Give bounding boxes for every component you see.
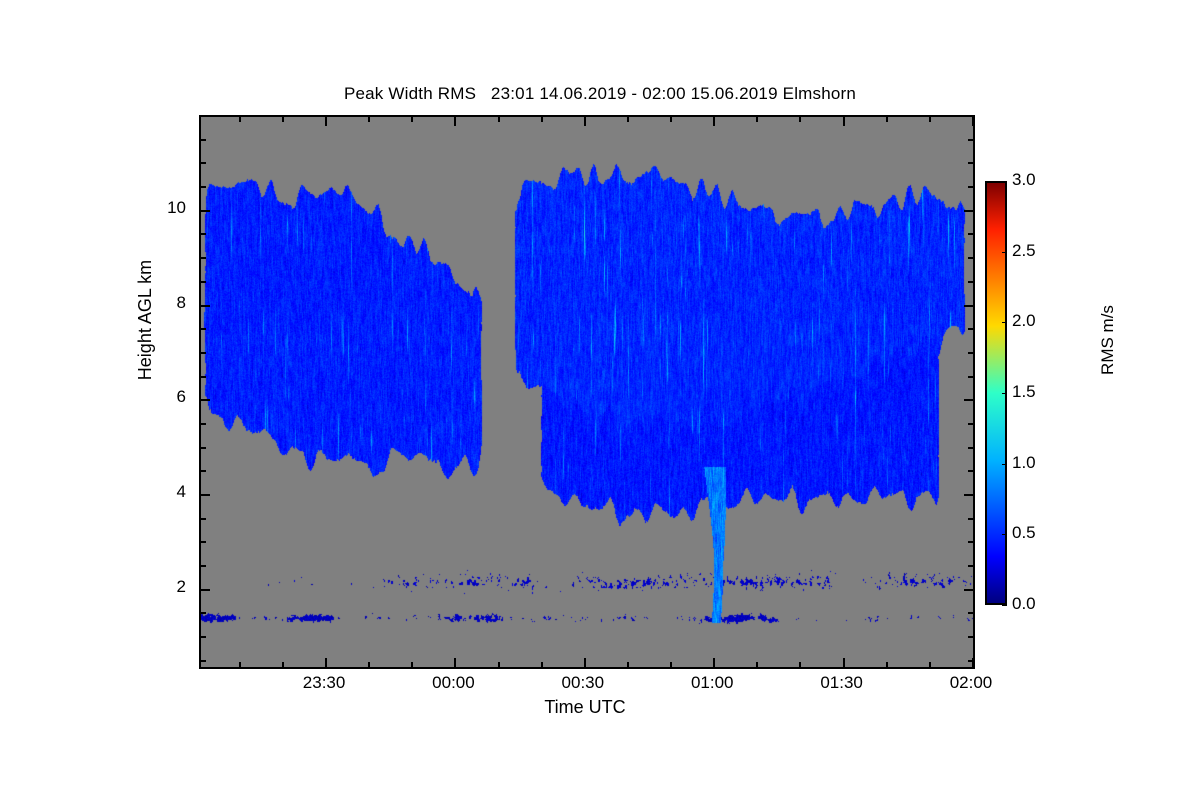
x-tick-major [713,117,715,126]
y-tick-label: 2 [106,577,186,597]
colorbar-tick-label: 0.0 [1012,594,1036,614]
y-tick-major [201,589,210,591]
x-tick-minor [411,117,413,122]
y-tick-minor [968,541,973,543]
y-tick-minor [968,660,973,662]
y-tick-minor [201,352,206,354]
colorbar-tick-label: 2.0 [1012,311,1036,331]
x-tick-minor [498,662,500,667]
y-tick-major [201,494,210,496]
x-axis-label: Time UTC [199,697,971,718]
y-tick-major [964,399,973,401]
colorbar-tick [1002,181,1007,182]
x-tick-label: 00:00 [393,673,513,693]
y-tick-minor [201,565,206,567]
y-tick-minor [968,612,973,614]
y-tick-minor [201,186,206,188]
colorbar-tick [1002,464,1007,465]
y-tick-minor [201,423,206,425]
colorbar-tick-label: 1.0 [1012,453,1036,473]
x-tick-minor [498,117,500,122]
x-tick-minor [541,662,543,667]
y-tick-minor [201,257,206,259]
x-tick-minor [756,117,758,122]
heatmap-data-field [201,117,973,667]
y-tick-minor [968,328,973,330]
x-tick-major [972,117,974,126]
x-tick-major [843,117,845,126]
y-tick-major [964,589,973,591]
x-tick-label: 23:30 [264,673,384,693]
x-tick-label: 01:00 [652,673,772,693]
y-tick-minor [201,470,206,472]
x-tick-minor [282,662,284,667]
x-tick-major [713,658,715,667]
x-tick-major [454,117,456,126]
y-tick-minor [968,447,973,449]
colorbar-tick [1002,534,1007,535]
colorbar-tick [1002,322,1007,323]
y-tick-minor [201,328,206,330]
y-tick-minor [201,447,206,449]
y-tick-minor [968,423,973,425]
x-tick-minor [670,117,672,122]
y-tick-minor [201,612,206,614]
y-tick-major [201,399,210,401]
y-tick-minor [201,233,206,235]
y-tick-minor [201,636,206,638]
x-tick-major [325,658,327,667]
y-tick-major [964,210,973,212]
x-tick-minor [886,117,888,122]
y-tick-major [964,494,973,496]
y-tick-minor [201,162,206,164]
y-tick-minor [968,518,973,520]
y-tick-minor [201,376,206,378]
colorbar-tick [1002,252,1007,253]
y-tick-minor [968,162,973,164]
x-tick-minor [886,662,888,667]
x-tick-major [454,658,456,667]
x-tick-minor [368,117,370,122]
colorbar-tick [1002,393,1007,394]
x-tick-minor [239,662,241,667]
y-tick-minor [201,541,206,543]
colorbar-tick-label: 3.0 [1012,170,1036,190]
colorbar-tick [1002,605,1007,606]
y-tick-minor [968,352,973,354]
heatmap-plot-area[interactable] [199,115,975,669]
y-tick-minor [968,257,973,259]
x-tick-minor [541,117,543,122]
x-tick-minor [799,117,801,122]
x-tick-minor [799,662,801,667]
y-tick-minor [968,139,973,141]
x-tick-label: 00:30 [523,673,643,693]
x-tick-label: 02:00 [911,673,1031,693]
page-title: Peak Width RMS 23:01 14.06.2019 - 02:00 … [0,84,1200,104]
y-tick-major [964,305,973,307]
x-tick-minor [368,662,370,667]
colorbar-tick-label: 0.5 [1012,523,1036,543]
x-tick-minor [282,117,284,122]
y-tick-major [201,305,210,307]
y-tick-minor [968,186,973,188]
y-tick-minor [968,470,973,472]
y-tick-minor [201,139,206,141]
x-tick-minor [929,662,931,667]
colorbar-label: RMS m/s [1098,240,1118,440]
y-tick-label: 4 [106,482,186,502]
x-tick-minor [627,117,629,122]
x-tick-major [843,658,845,667]
x-tick-minor [670,662,672,667]
x-tick-major [584,117,586,126]
y-tick-minor [201,518,206,520]
colorbar[interactable] [985,181,1007,605]
y-tick-minor [201,281,206,283]
x-tick-major [584,658,586,667]
colorbar-tick-label: 1.5 [1012,382,1036,402]
figure-canvas: Peak Width RMS 23:01 14.06.2019 - 02:00 … [0,0,1200,800]
colorbar-tick-label: 2.5 [1012,241,1036,261]
x-tick-minor [411,662,413,667]
x-tick-minor [756,662,758,667]
x-tick-minor [627,662,629,667]
y-tick-minor [968,281,973,283]
y-axis-label: Height AGL km [135,170,156,470]
x-tick-label: 01:30 [782,673,902,693]
y-tick-minor [968,636,973,638]
x-tick-minor [239,117,241,122]
y-tick-minor [968,565,973,567]
x-tick-minor [929,117,931,122]
x-tick-major [325,117,327,126]
y-tick-minor [201,660,206,662]
y-tick-minor [968,233,973,235]
y-tick-minor [968,376,973,378]
y-tick-major [201,210,210,212]
